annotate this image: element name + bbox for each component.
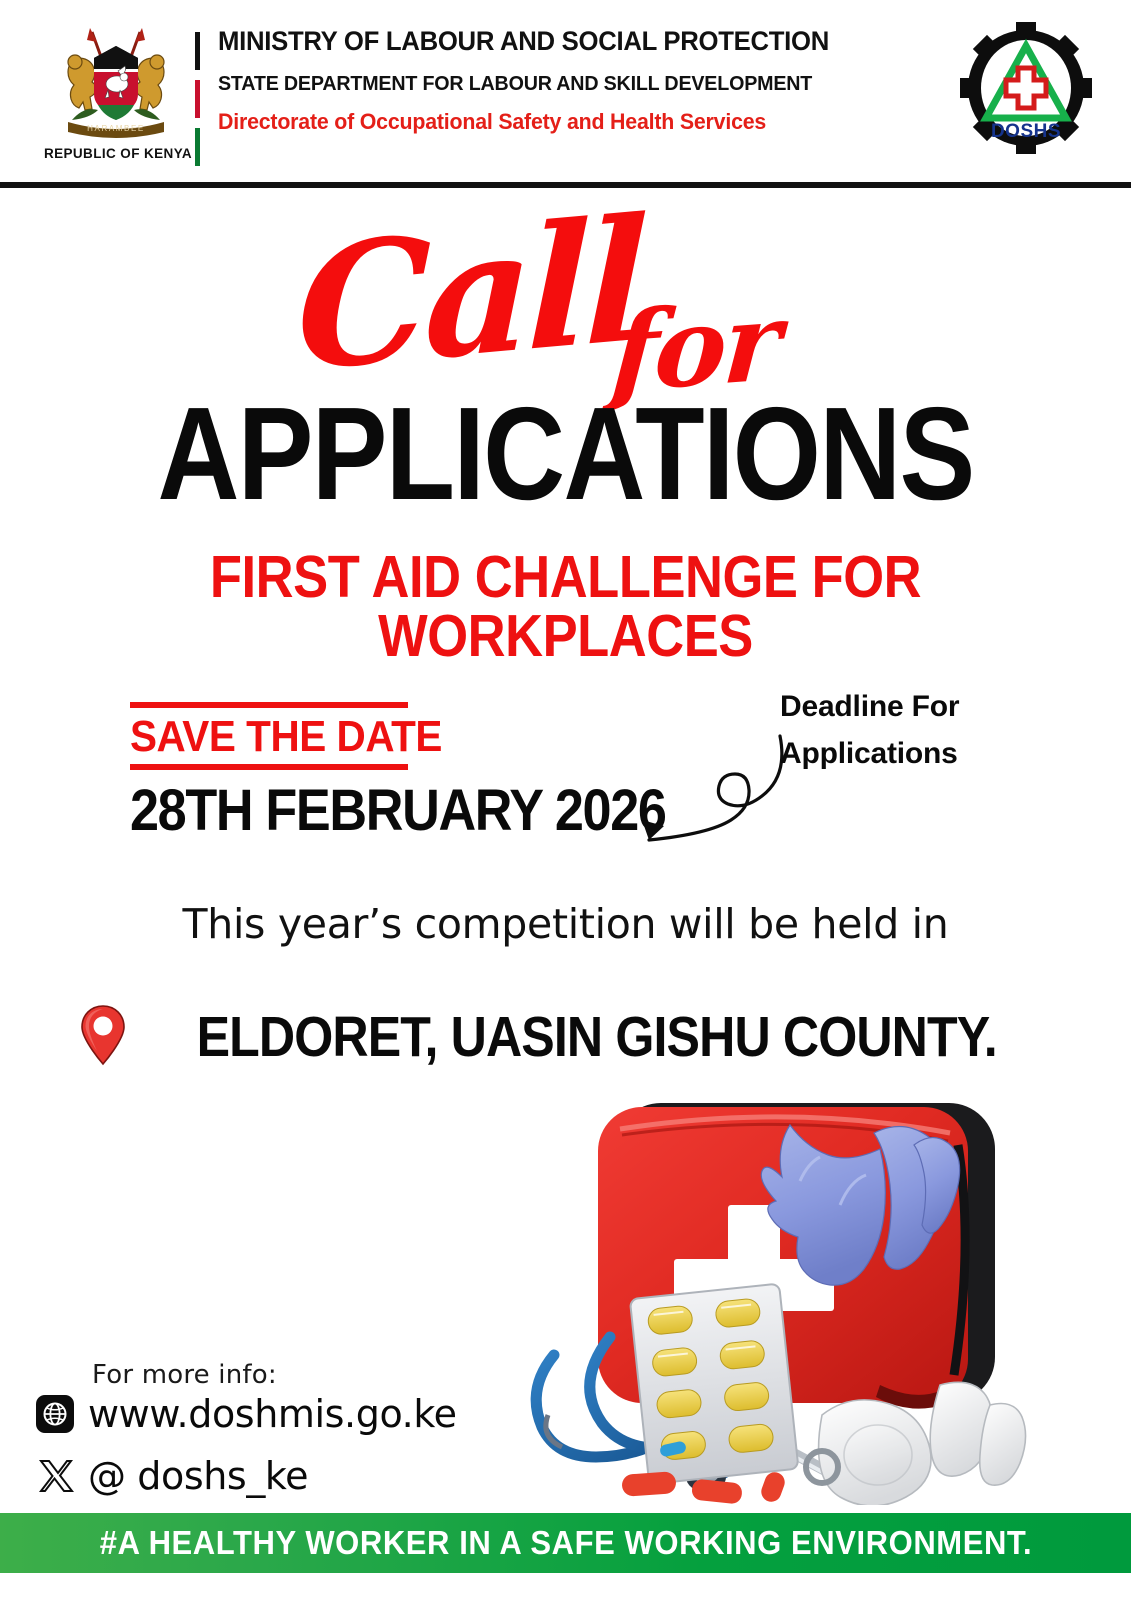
first-aid-kit-photo bbox=[470, 1085, 1130, 1505]
svg-text:DOSHS: DOSHS bbox=[991, 121, 1061, 142]
map-pin-icon bbox=[80, 1004, 126, 1066]
for-more-info-label: For more info: bbox=[92, 1360, 466, 1390]
divider-segment-red bbox=[195, 80, 200, 118]
save-the-date-label: SAVE THE DATE bbox=[130, 708, 498, 764]
deadline-line-2: Applications bbox=[780, 731, 1030, 778]
kenya-coat-of-arms-icon: HARAMBEE bbox=[42, 24, 190, 144]
directorate-name: Directorate of Occupational Safety and H… bbox=[218, 111, 858, 133]
venue-row: ELDORET, UASIN GISHU COUNTY. bbox=[0, 1008, 1131, 1066]
headline-applications: APPLICATIONS bbox=[79, 388, 1052, 520]
doshs-logo-icon: DOSHS bbox=[958, 22, 1094, 162]
curly-arrow-icon bbox=[608, 716, 788, 846]
coat-of-arms-caption: REPUBLIC OF KENYA bbox=[28, 146, 208, 161]
save-the-date-block: SAVE THE DATE 28TH FEBRUARY 2026 bbox=[130, 702, 530, 840]
footer-slogan-bar: #A HEALTHY WORKER IN A SAFE WORKING ENVI… bbox=[0, 1513, 1131, 1573]
website-row[interactable]: www.doshmis.go.ke bbox=[36, 1392, 466, 1436]
deadline-line-1: Deadline For bbox=[780, 684, 1030, 731]
header-text-block: MINISTRY OF LABOUR AND SOCIAL PROTECTION… bbox=[218, 28, 878, 133]
globe-icon bbox=[36, 1395, 74, 1433]
competition-intro-text: This year’s competition will be held in bbox=[0, 900, 1131, 948]
social-handle[interactable]: @ doshs_ke bbox=[88, 1454, 308, 1498]
state-department: STATE DEPARTMENT FOR LABOUR AND SKILL DE… bbox=[218, 74, 852, 95]
ministry-name: MINISTRY OF LABOUR AND SOCIAL PROTECTION bbox=[218, 28, 858, 55]
event-date: 28TH FEBRUARY 2026 bbox=[130, 782, 490, 840]
divider-segment-black bbox=[195, 32, 200, 70]
x-twitter-icon bbox=[36, 1457, 74, 1495]
website-url[interactable]: www.doshmis.go.ke bbox=[88, 1392, 457, 1436]
footer-slogan-text: #A HEALTHY WORKER IN A SAFE WORKING ENVI… bbox=[99, 1524, 1031, 1562]
poster-canvas: HARAMBEE REPUBLIC OF KENYA MINISTRY OF L… bbox=[0, 0, 1131, 1600]
poster-header: HARAMBEE REPUBLIC OF KENYA MINISTRY OF L… bbox=[0, 0, 1131, 186]
kenya-tricolor-divider bbox=[195, 28, 200, 168]
divider-segment-green bbox=[195, 128, 200, 166]
contact-block: For more info: www.doshmis.go.ke @ doshs… bbox=[36, 1360, 466, 1498]
svg-text:HARAMBEE: HARAMBEE bbox=[87, 124, 145, 133]
save-the-date-rule-bottom bbox=[130, 764, 408, 770]
script-word-call: Call bbox=[296, 195, 644, 394]
social-row[interactable]: @ doshs_ke bbox=[36, 1454, 466, 1498]
deadline-note: Deadline For Applications bbox=[780, 684, 1030, 777]
venue-name: ELDORET, UASIN GISHU COUNTY. bbox=[196, 1009, 996, 1066]
subtitle-first-aid-challenge: FIRST AID CHALLENGE FOR WORKPLACES bbox=[62, 548, 1069, 666]
